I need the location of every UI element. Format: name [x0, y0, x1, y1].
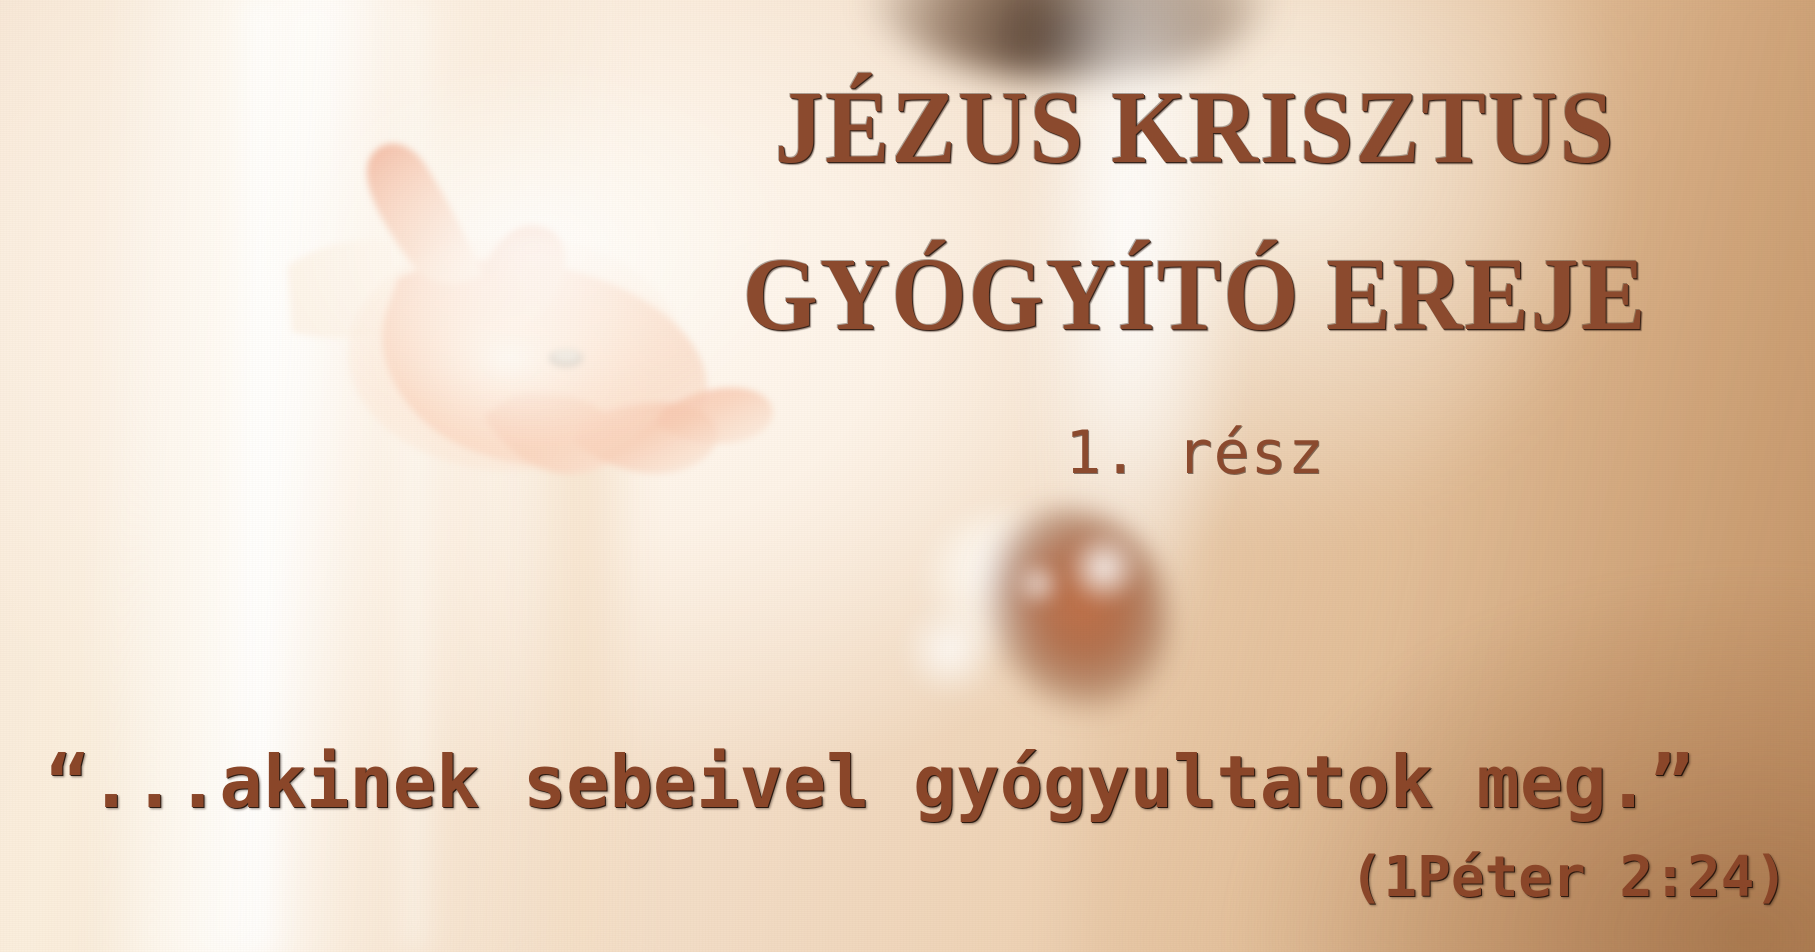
second-hand [958, 491, 1192, 755]
scripture-quote: “...akinek sebeivel gyógyultatok meg.” [46, 740, 1806, 824]
scripture-reference: (1Péter 2:24) [46, 845, 1788, 910]
poster-canvas: JÉZUS KRISZTUS GYÓGYÍTÓ EREJE 1. rész “.… [0, 0, 1815, 952]
title-line-1: JÉZUS KRISZTUS [642, 62, 1749, 193]
title-line-2: GYÓGYÍTÓ EREJE [642, 229, 1749, 360]
bokeh-highlight-b [1066, 530, 1142, 606]
bokeh-highlight-a [902, 602, 998, 698]
bokeh-highlight-c [1014, 560, 1062, 608]
second-hand-glow [928, 512, 1088, 652]
poster-title: JÉZUS KRISZTUS GYÓGYÍTÓ EREJE [600, 26, 1790, 396]
poster-subtitle: 1. rész [600, 418, 1790, 488]
